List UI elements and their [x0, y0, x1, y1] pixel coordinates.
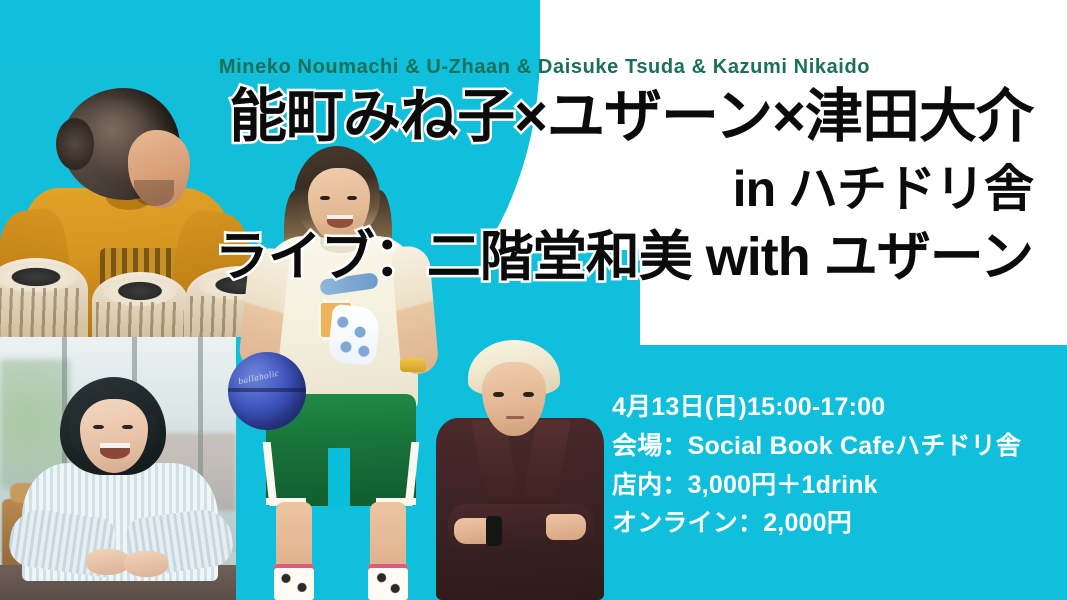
- event-price-instore: 店内：3,000円＋1drink: [612, 466, 1052, 505]
- right-figure-wristwatch: [486, 516, 502, 546]
- photo-tsuda-portrait: [424, 340, 636, 600]
- center-figure-left-sock: [274, 564, 314, 600]
- shirt-print-cloth: [327, 304, 381, 367]
- event-poster: Mineko Noumachi & U-Zhaan & Daisuke Tsud…: [0, 0, 1067, 600]
- right-figure-mouth: [506, 416, 524, 419]
- center-figure-right-sock: [368, 564, 408, 600]
- photo-nikaido-basketball: [218, 146, 448, 600]
- cafe-portrait-smile: [100, 443, 130, 459]
- tabla-drum-laces: [96, 302, 184, 337]
- shirt-print-sash: [319, 272, 379, 296]
- tabla-player-face: [128, 130, 190, 208]
- cafe-portrait-eye-left: [93, 425, 104, 429]
- center-figure-wristwatch: [400, 358, 426, 372]
- performer-names-subtitle: Mineko Noumachi & U-Zhaan & Daisuke Tsud…: [0, 56, 1067, 79]
- cafe-portrait-eye-right: [122, 425, 133, 429]
- tabla-drum-laces: [0, 288, 84, 337]
- cafe-portrait-right-hand: [124, 551, 168, 577]
- right-figure-eye-left: [493, 392, 504, 397]
- event-price-online: オンライン：2,000円: [612, 504, 1052, 543]
- tabla-drum-left: [0, 258, 88, 337]
- basketball: [228, 352, 306, 430]
- right-figure-right-hand: [546, 514, 586, 540]
- center-figure-shirt-print: [314, 276, 380, 368]
- photo-mineko-cafe: [0, 337, 236, 600]
- event-date-time: 4月13日(日)15:00-17:00: [612, 388, 1052, 427]
- center-figure-smile: [327, 215, 353, 228]
- right-figure-eye-right: [523, 392, 534, 397]
- center-figure-eye-left: [320, 196, 330, 200]
- tabla-drum-middle: [92, 272, 188, 337]
- center-figure-eye-right: [347, 196, 357, 200]
- event-venue: 会場：Social Book Cafeハチドリ舎: [612, 427, 1052, 466]
- event-details: 4月13日(日)15:00-17:00 会場：Social Book Cafeハ…: [612, 388, 1052, 543]
